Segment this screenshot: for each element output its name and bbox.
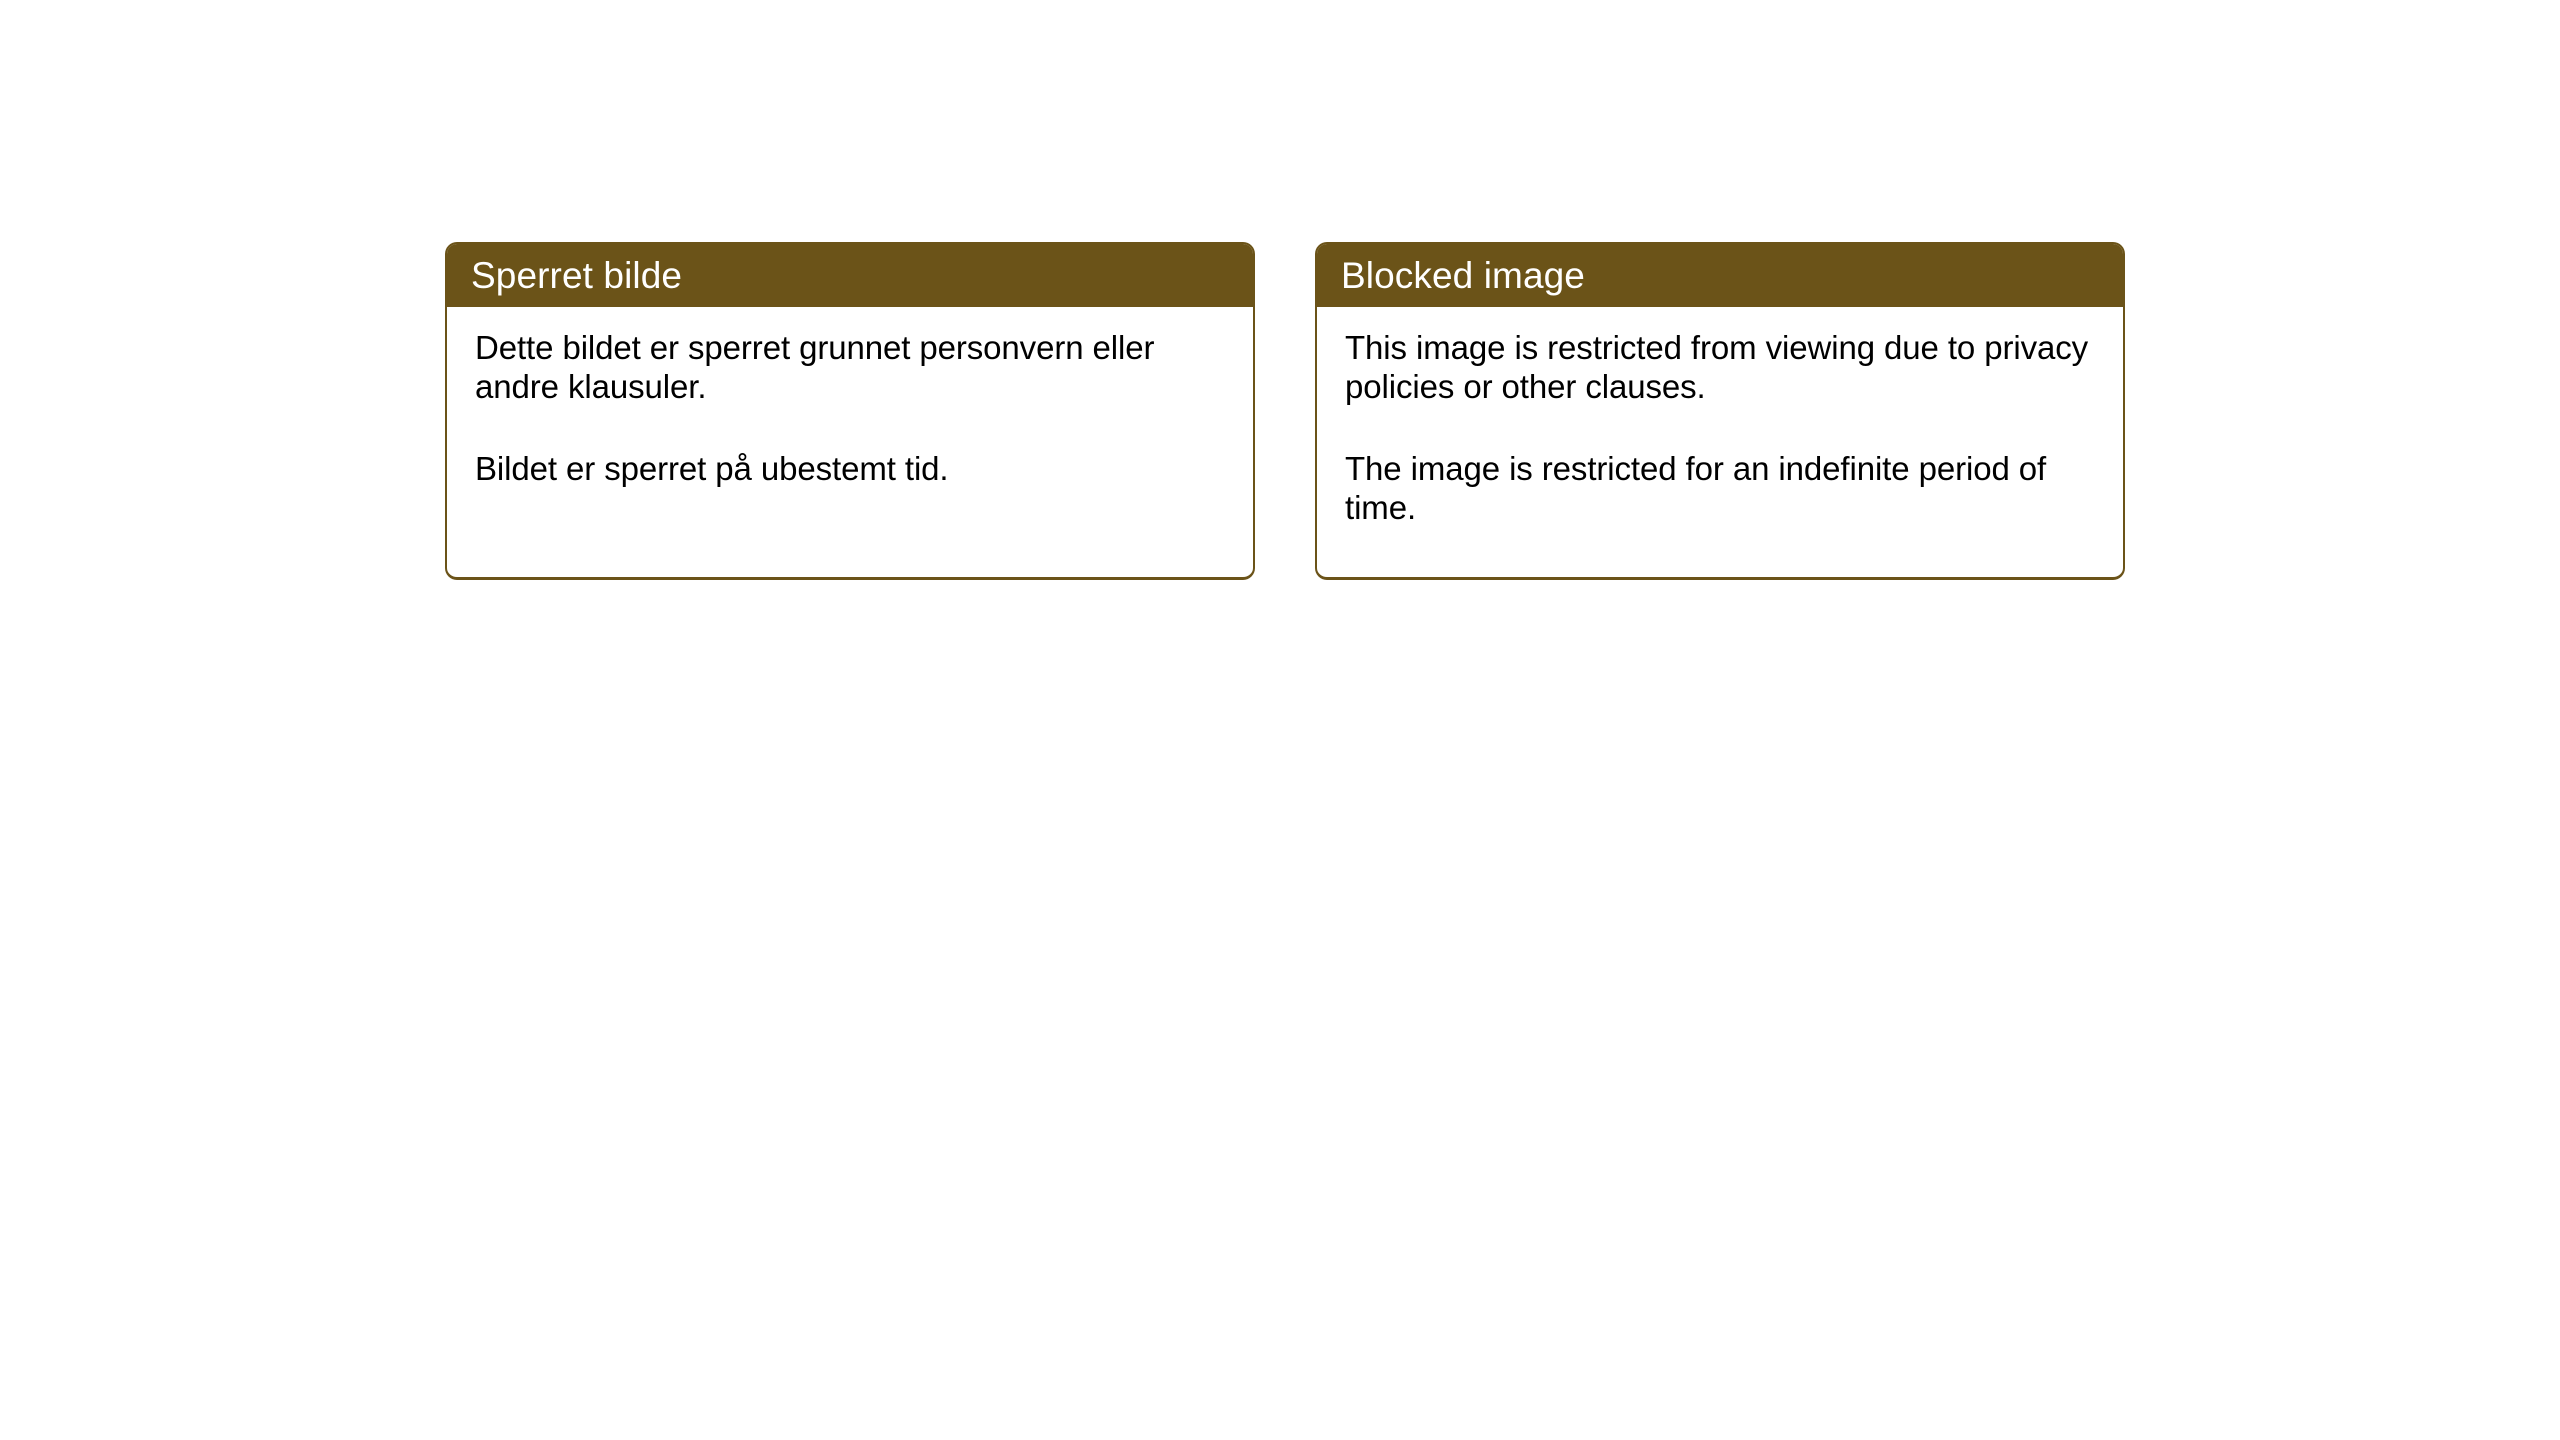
blocked-image-notice-no: Sperret bilde Dette bildet er sperret gr… bbox=[445, 242, 1255, 580]
panel-header-en: Blocked image bbox=[1317, 244, 2123, 307]
panel-title-en: Blocked image bbox=[1341, 257, 1585, 294]
panel-paragraph-en-1: This image is restricted from viewing du… bbox=[1345, 329, 2097, 406]
panel-title-no: Sperret bilde bbox=[471, 257, 682, 294]
panel-paragraph-no-2: Bildet er sperret på ubestemt tid. bbox=[475, 450, 1227, 489]
panel-paragraph-en-2: The image is restricted for an indefinit… bbox=[1345, 450, 2097, 527]
panel-body-en: This image is restricted from viewing du… bbox=[1317, 307, 2123, 527]
blocked-image-notice-en: Blocked image This image is restricted f… bbox=[1315, 242, 2125, 580]
panel-paragraph-no-1: Dette bildet er sperret grunnet personve… bbox=[475, 329, 1227, 406]
panel-body-no: Dette bildet er sperret grunnet personve… bbox=[447, 307, 1253, 489]
panel-header-no: Sperret bilde bbox=[447, 244, 1253, 307]
